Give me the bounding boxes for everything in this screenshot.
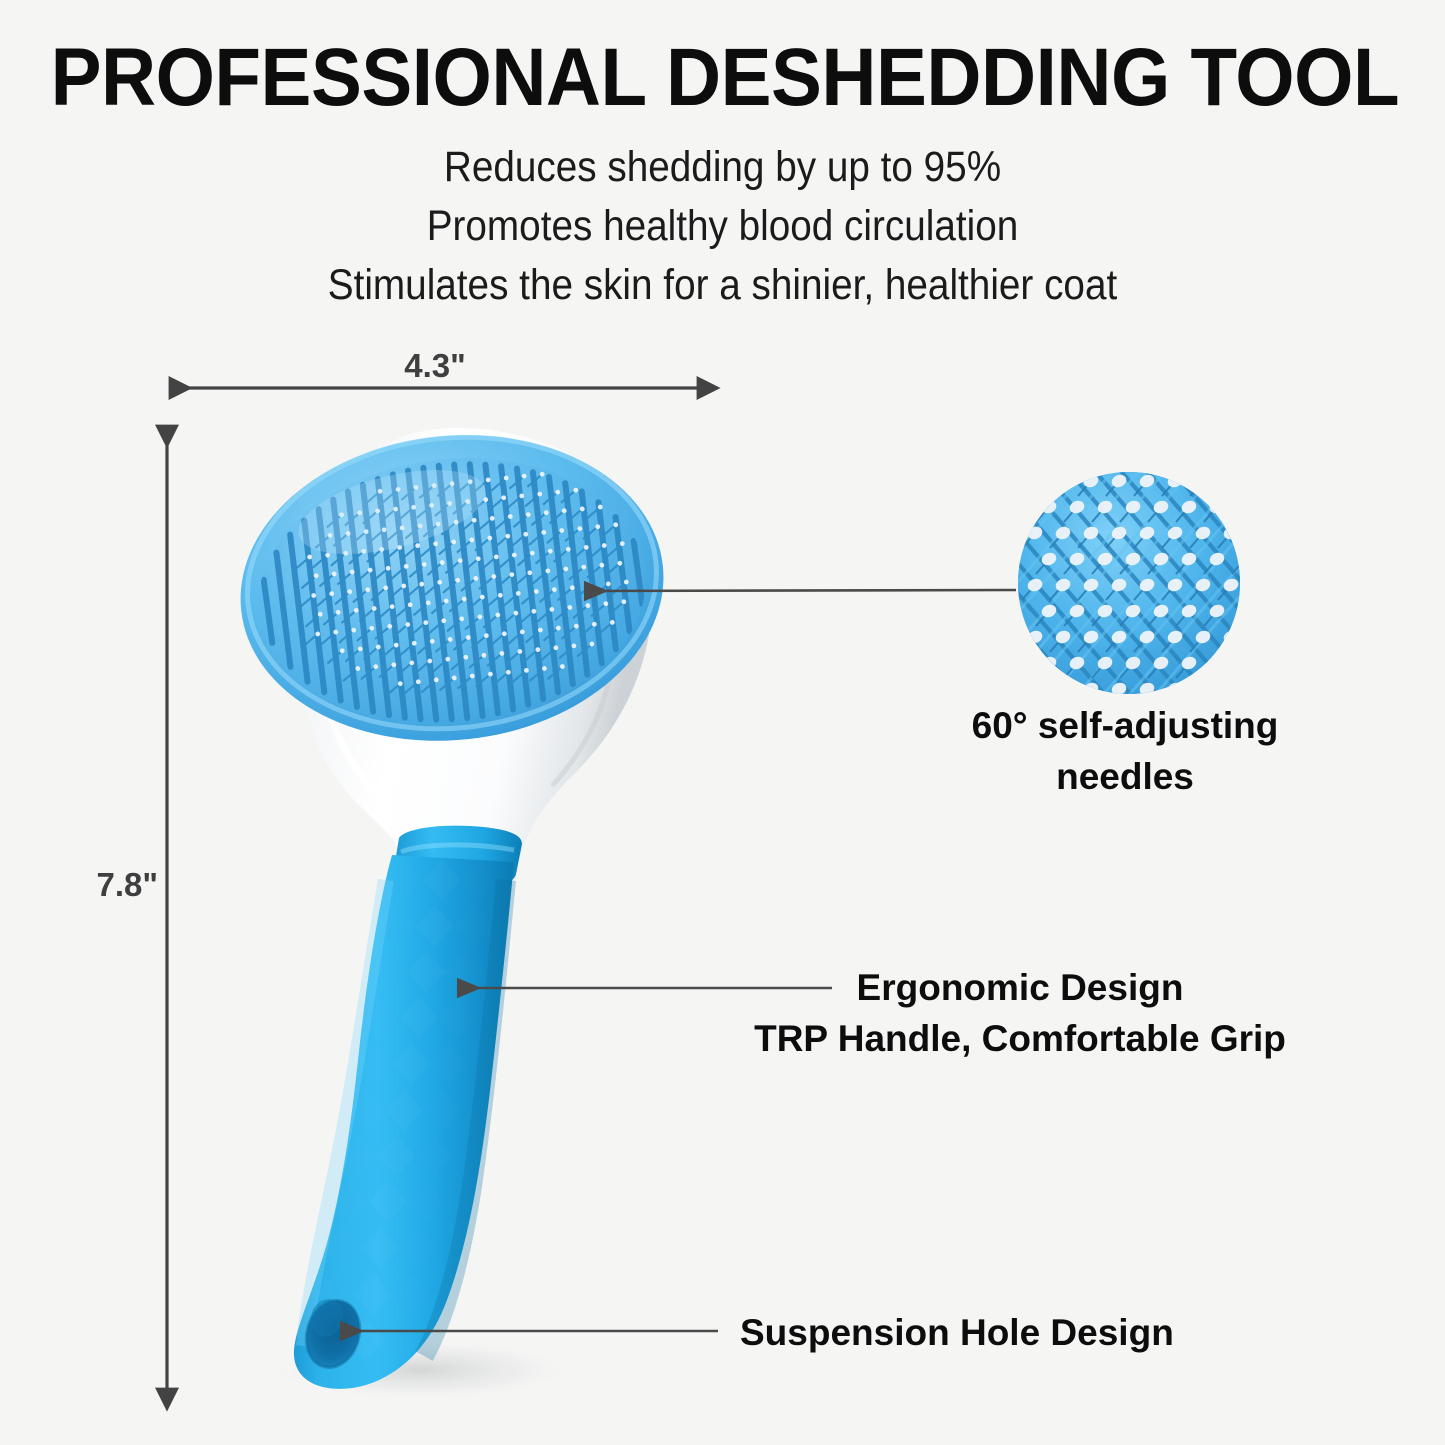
callout-ergonomic-line-1: Ergonomic Design <box>730 962 1310 1013</box>
benefit-line-2: Promotes healthy blood circulation <box>72 197 1373 256</box>
benefit-line-1: Reduces shedding by up to 95% <box>72 138 1373 197</box>
product-body-white <box>298 428 653 860</box>
callout-ergonomic-line-2: TRP Handle, Comfortable Grip <box>730 1013 1310 1064</box>
page-title: PROFESSIONAL DESHEDDING TOOL <box>51 34 1395 122</box>
height-dimension-label: 7.8" <box>62 866 158 904</box>
infographic-page: PROFESSIONAL DESHEDDING TOOL Reduces she… <box>0 0 1445 1445</box>
callout-needles: 60° self-adjusting needles <box>880 700 1370 802</box>
brush-head-pad <box>245 439 659 744</box>
callout-suspension: Suspension Hole Design <box>740 1308 1174 1357</box>
callout-needles-line-2: needles <box>880 751 1370 802</box>
callout-needles-line-1: 60° self-adjusting <box>880 700 1370 751</box>
handle-grip <box>294 855 514 1389</box>
brush-head-rim <box>225 415 678 762</box>
needles-leader-line <box>586 590 1016 591</box>
handle-collar <box>394 826 522 889</box>
benefit-line-3: Stimulates the skin for a shinier, healt… <box>72 256 1373 315</box>
callout-ergonomic: Ergonomic Design TRP Handle, Comfortable… <box>730 962 1310 1064</box>
width-dimension-label: 4.3" <box>0 347 870 385</box>
needle-magnifier-inset <box>1018 472 1240 694</box>
callout-suspension-line-1: Suspension Hole Design <box>740 1308 1174 1357</box>
suspension-hole <box>299 1294 368 1374</box>
benefit-list: Reduces shedding by up to 95% Promotes h… <box>0 138 1445 315</box>
pad-slots <box>264 464 643 720</box>
product-shadow <box>270 1340 570 1400</box>
handle-facets <box>309 859 500 1361</box>
